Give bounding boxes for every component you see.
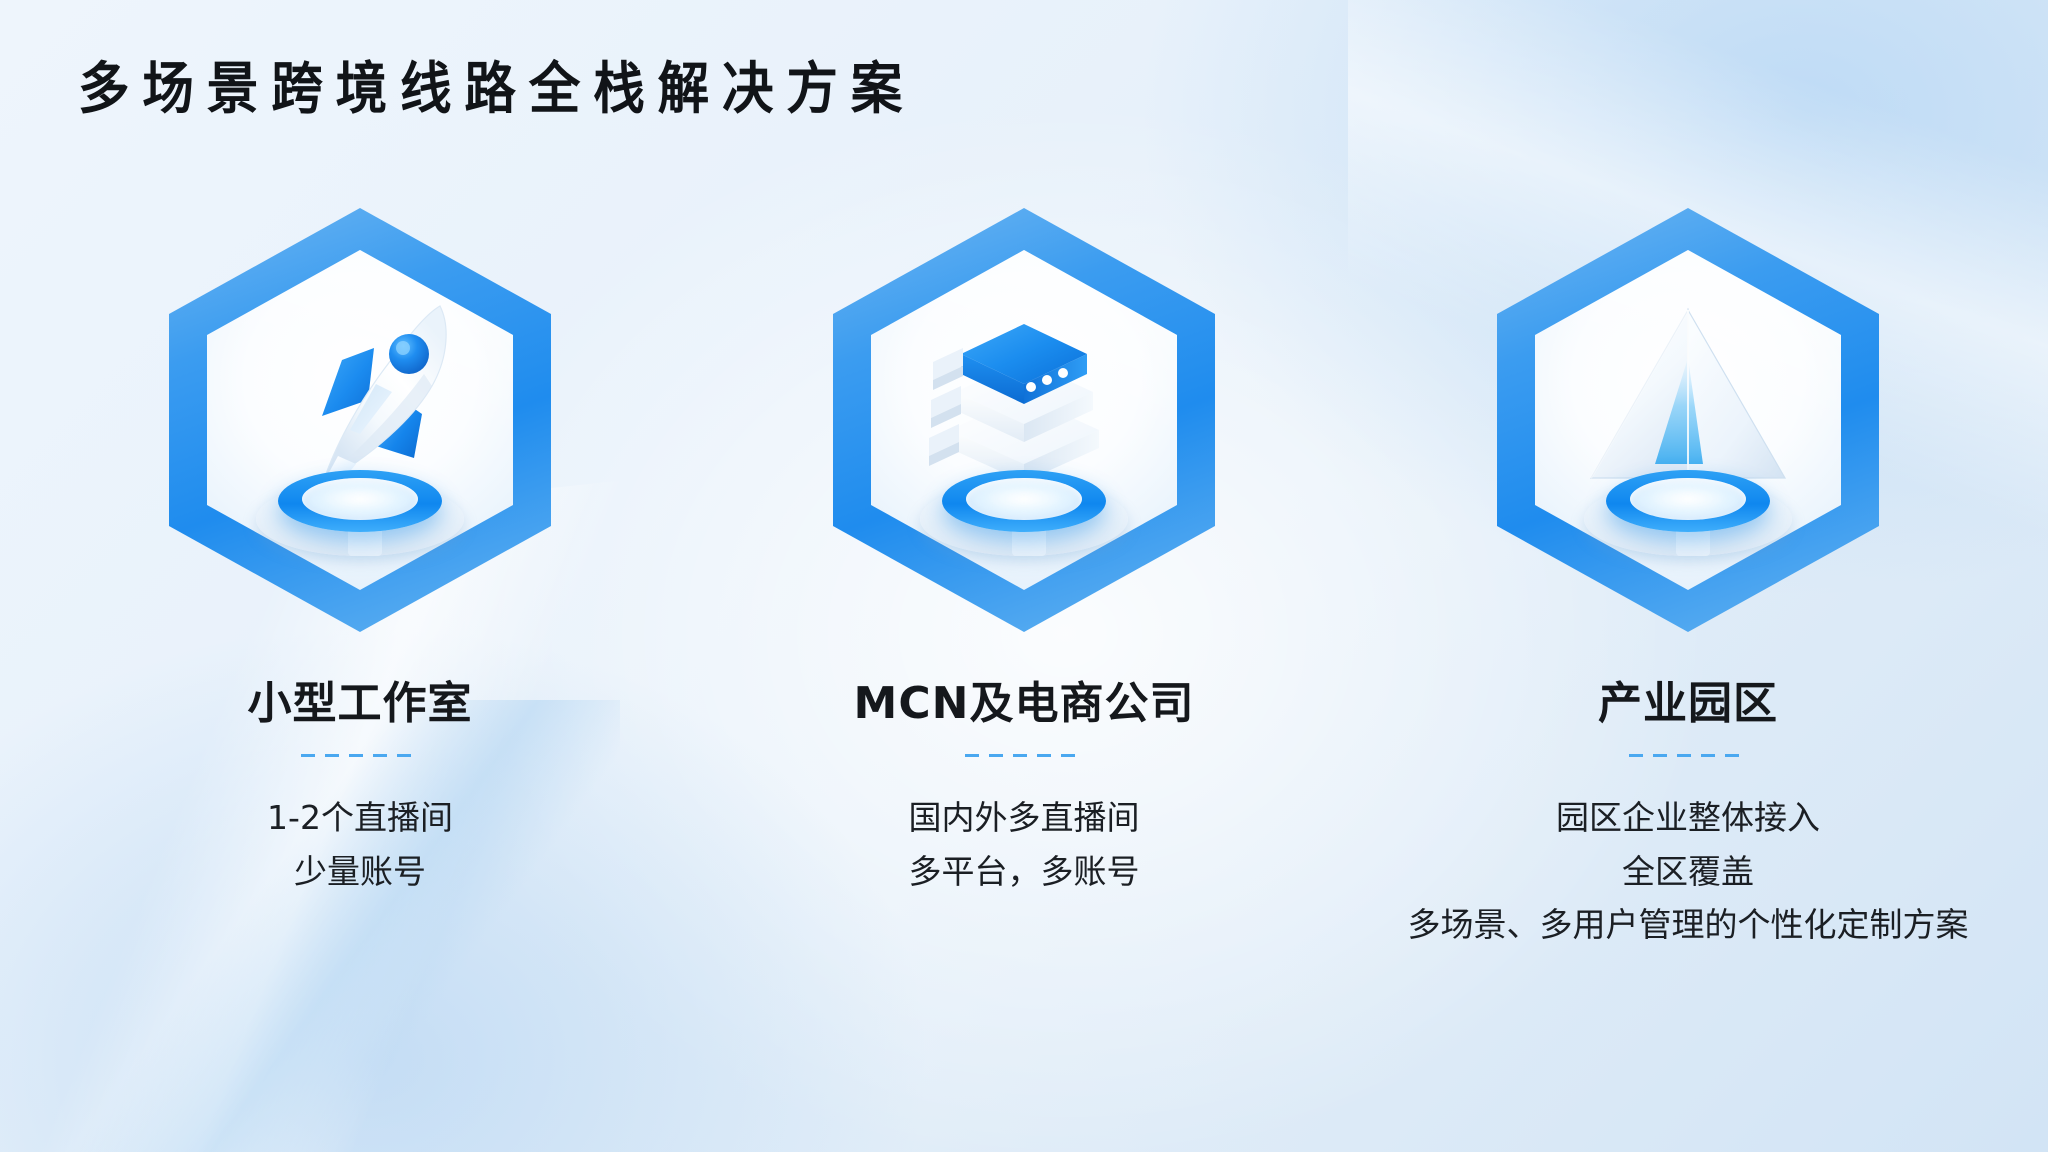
slide-root: 多场景跨境线路全栈解决方案 <box>0 0 2048 1152</box>
rocket-icon <box>264 288 464 498</box>
server-base-platform <box>920 468 1128 560</box>
base-glow <box>308 482 412 516</box>
card-line: 少量账号 <box>267 845 453 898</box>
card-description: 国内外多直播间 多平台，多账号 <box>909 791 1140 898</box>
hexagon-badge-server <box>824 200 1224 640</box>
card-divider <box>965 754 1083 757</box>
rocket-porthole-highlight <box>396 341 410 355</box>
card-industrial-park[interactable]: 产业园区 园区企业整体接入 全区覆盖 多场景、多用户管理的个性化定制方案 <box>1408 200 1968 952</box>
card-line: 全区覆盖 <box>1408 845 1969 898</box>
icon-stage-pyramid <box>1538 270 1838 570</box>
pyramid-base-platform <box>1584 468 1792 560</box>
cards-row: 小型工作室 1-2个直播间 少量账号 <box>0 200 2048 952</box>
server-indicator-dot <box>1026 382 1036 392</box>
pyramid-face-right <box>1688 310 1785 478</box>
card-small-studio[interactable]: 小型工作室 1-2个直播间 少量账号 <box>80 200 640 952</box>
card-title: 小型工作室 <box>248 680 473 728</box>
card-line: 多平台，多账号 <box>909 845 1140 898</box>
server-rack-tabs <box>929 348 963 466</box>
card-title: 产业园区 <box>1598 680 1778 728</box>
base-glow <box>972 482 1076 516</box>
card-title: MCN及电商公司 <box>854 680 1195 728</box>
card-divider <box>301 754 419 757</box>
card-description: 1-2个直播间 少量账号 <box>267 791 453 898</box>
glass-pyramid-icon <box>1581 296 1795 492</box>
icon-stage-server <box>874 270 1174 570</box>
server-stack-icon <box>919 300 1129 490</box>
card-mcn-ecommerce[interactable]: MCN及电商公司 国内外多直播间 多平台，多账号 <box>744 200 1304 952</box>
card-line: 国内外多直播间 <box>909 791 1140 844</box>
card-line: 多场景、多用户管理的个性化定制方案 <box>1408 898 1969 951</box>
server-indicator-dot <box>1042 375 1052 385</box>
card-line: 园区企业整体接入 <box>1408 791 1969 844</box>
base-glow <box>1636 482 1740 516</box>
hexagon-badge-pyramid <box>1488 200 1888 640</box>
icon-stage-rocket <box>210 270 510 570</box>
card-line: 1-2个直播间 <box>267 791 453 844</box>
hexagon-badge-rocket <box>160 200 560 640</box>
card-divider <box>1629 754 1747 757</box>
page-title: 多场景跨境线路全栈解决方案 <box>78 56 915 123</box>
rocket-base-platform <box>256 468 464 560</box>
server-indicator-dot <box>1058 368 1068 378</box>
card-description: 园区企业整体接入 全区覆盖 多场景、多用户管理的个性化定制方案 <box>1408 791 1969 951</box>
rocket-porthole <box>389 334 429 374</box>
